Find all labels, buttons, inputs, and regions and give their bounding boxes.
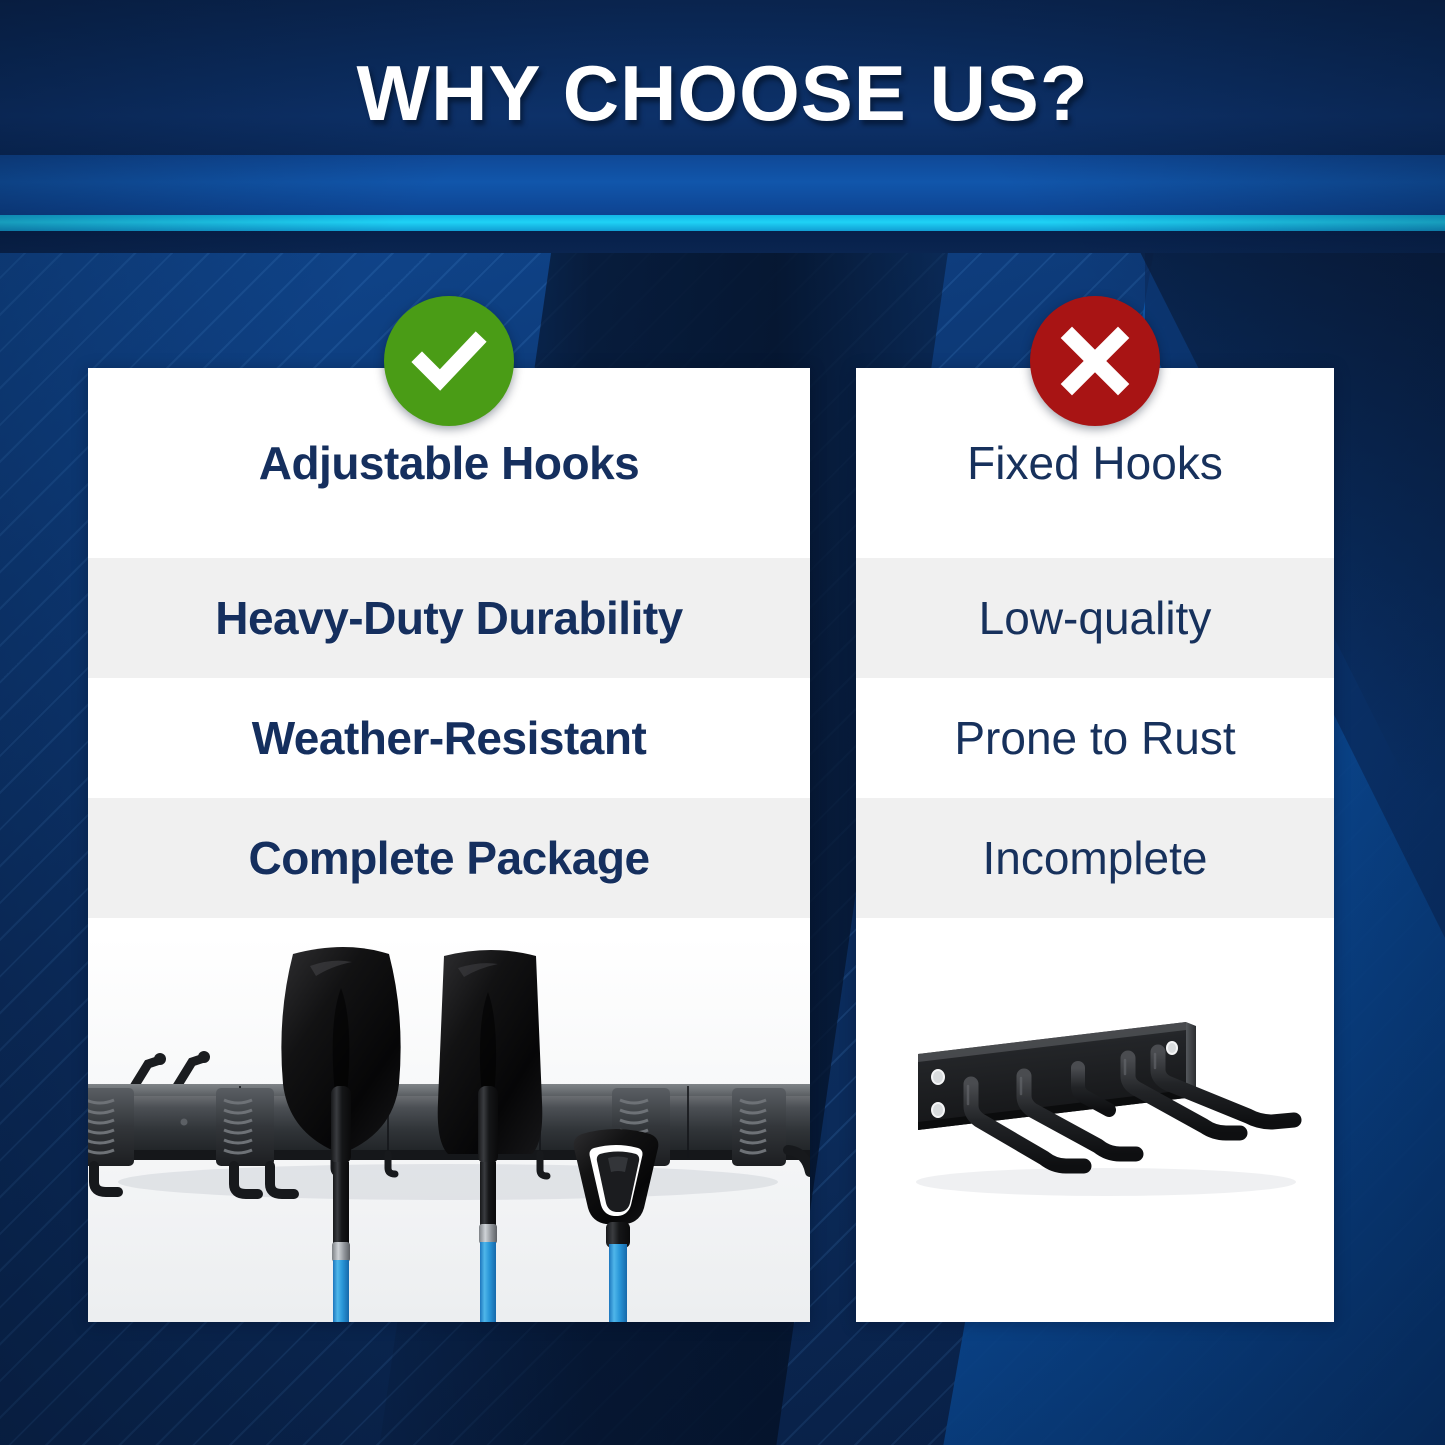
con-item-label: Incomplete <box>982 831 1207 885</box>
page-title: WHY CHOOSE US? <box>0 48 1445 139</box>
con-column-card: Fixed Hooks Low-quality Prone to Rust In… <box>856 368 1334 1322</box>
pro-item-label: Heavy-Duty Durability <box>215 591 683 645</box>
con-row-3: Incomplete <box>856 798 1334 918</box>
pro-column-card: Adjustable Hooks Heavy-Duty Durability W… <box>88 368 810 1322</box>
background-band-cyan-accent <box>0 215 1445 231</box>
con-item-label: Prone to Rust <box>954 711 1235 765</box>
con-row-2: Prone to Rust <box>856 678 1334 798</box>
pro-item-label: Weather-Resistant <box>252 711 647 765</box>
pro-row-2: Weather-Resistant <box>88 678 810 798</box>
pro-item-label: Complete Package <box>248 831 649 885</box>
check-icon <box>410 322 488 400</box>
con-badge <box>1030 296 1160 426</box>
con-row-1: Low-quality <box>856 558 1334 678</box>
con-item-label: Low-quality <box>979 591 1212 645</box>
pro-item-label: Adjustable Hooks <box>259 436 640 490</box>
background-band-mid <box>0 155 1445 215</box>
con-item-label: Fixed Hooks <box>967 436 1223 490</box>
pro-row-3: Complete Package <box>88 798 810 918</box>
pro-badge <box>384 296 514 426</box>
pro-product-image <box>88 936 810 1322</box>
cross-icon <box>1060 326 1130 396</box>
con-product-image <box>856 936 1334 1322</box>
pro-row-1: Heavy-Duty Durability <box>88 558 810 678</box>
infographic-canvas: WHY CHOOSE US? Adjustable Hooks Heavy-Du… <box>0 0 1445 1445</box>
